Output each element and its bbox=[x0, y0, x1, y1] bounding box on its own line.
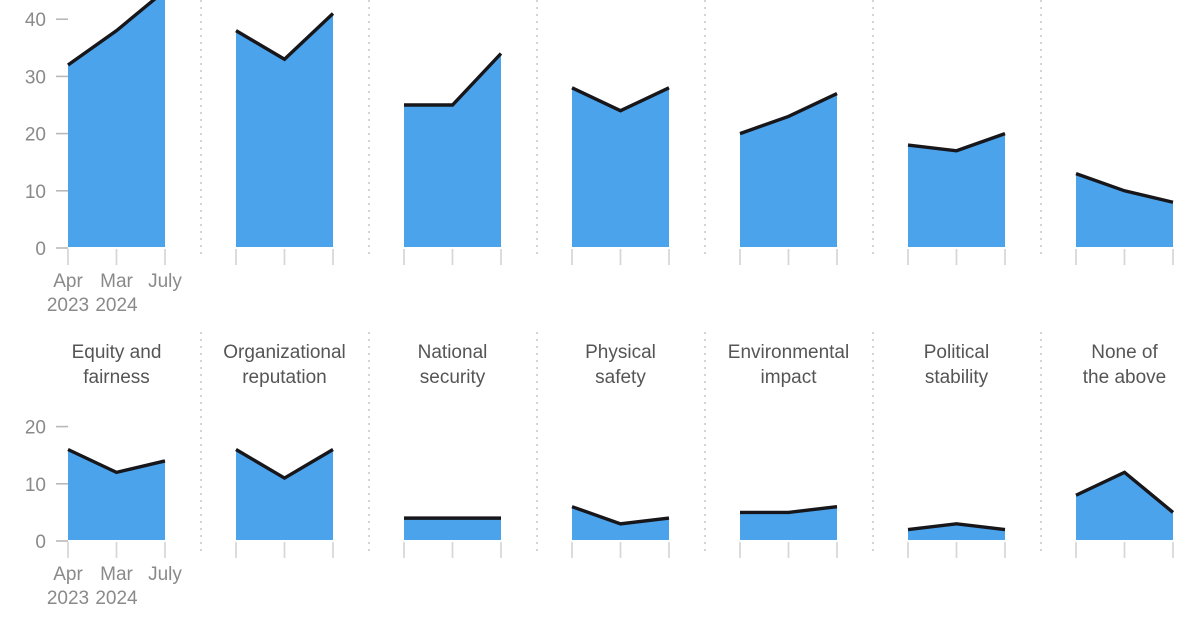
panel-title-line1: Political bbox=[924, 342, 989, 363]
panel-title-line2: reputation bbox=[242, 367, 327, 388]
panel-bottom-6 bbox=[908, 524, 1005, 541]
area-fill bbox=[1076, 174, 1173, 248]
panel-top-3 bbox=[404, 54, 501, 248]
y-axis-tick-label: 10 bbox=[25, 475, 46, 496]
x-axis-year-label: 2024 bbox=[95, 295, 138, 316]
area-fill bbox=[236, 449, 333, 541]
panel-top-5 bbox=[740, 94, 837, 248]
panel-title-line1: None of bbox=[1091, 342, 1158, 363]
y-axis-tick-label: 0 bbox=[35, 532, 46, 553]
y-axis-tick-label: 30 bbox=[25, 67, 46, 88]
y-axis-tick-label: 20 bbox=[25, 418, 46, 439]
panel-bottom-1 bbox=[68, 449, 165, 541]
panel-bottom-2 bbox=[236, 449, 333, 541]
panel-bottom-5 bbox=[740, 507, 837, 541]
panel-title-line1: Equity and bbox=[72, 342, 162, 363]
panel-title-line2: stability bbox=[925, 367, 989, 388]
area-fill bbox=[236, 13, 333, 248]
x-axis-year-label: 2023 bbox=[47, 295, 89, 316]
y-axis-tick-label: 20 bbox=[25, 125, 46, 146]
panel-title-line2: impact bbox=[761, 367, 818, 388]
panel-title-line2: fairness bbox=[83, 367, 150, 388]
panel-top-6 bbox=[908, 134, 1005, 248]
panel-bottom-3 bbox=[404, 518, 501, 541]
panel-title-line1: Organizational bbox=[223, 342, 346, 363]
area-fill bbox=[404, 54, 501, 248]
chart-row-bottom: 01020Apr2023Mar2024July bbox=[25, 418, 1173, 609]
area-fill bbox=[404, 518, 501, 541]
x-axis-month-label: Apr bbox=[53, 564, 83, 585]
panel-top-4 bbox=[572, 88, 669, 248]
x-axis-year-label: 2024 bbox=[95, 588, 138, 609]
small-multiples-chart: 010203040Apr2023Mar2024July01020Apr2023M… bbox=[0, 0, 1200, 630]
x-axis-month-label: July bbox=[148, 564, 182, 585]
panel-title-line1: Environmental bbox=[728, 342, 849, 363]
y-axis-tick-label: 10 bbox=[25, 182, 46, 203]
area-fill bbox=[1076, 472, 1173, 541]
area-fill bbox=[68, 0, 165, 248]
panel-title-line2: the above bbox=[1083, 367, 1166, 388]
x-axis-month-label: Mar bbox=[100, 564, 133, 585]
panel-top-2 bbox=[236, 13, 333, 248]
panel-title-line1: National bbox=[418, 342, 488, 363]
panel-top-1 bbox=[68, 0, 165, 248]
panel-title-line2: safety bbox=[595, 367, 646, 388]
y-axis-tick-label: 0 bbox=[35, 239, 46, 260]
panel-titles: Equity andfairnessOrganizationalreputati… bbox=[72, 342, 1167, 388]
chart-canvas: 010203040Apr2023Mar2024July01020Apr2023M… bbox=[0, 0, 1200, 630]
panel-title-line1: Physical bbox=[585, 342, 656, 363]
panel-bottom-4 bbox=[572, 507, 669, 541]
chart-row-top: 010203040Apr2023Mar2024July bbox=[25, 0, 1173, 316]
panel-top-7 bbox=[1076, 174, 1173, 248]
panel-bottom-7 bbox=[1076, 472, 1173, 541]
panel-title-line2: security bbox=[420, 367, 486, 388]
y-axis-tick-label: 40 bbox=[25, 10, 46, 31]
x-axis-month-label: Mar bbox=[100, 271, 133, 292]
x-axis-month-label: Apr bbox=[53, 271, 83, 292]
x-axis-year-label: 2023 bbox=[47, 588, 89, 609]
x-axis-month-label: July bbox=[148, 271, 182, 292]
